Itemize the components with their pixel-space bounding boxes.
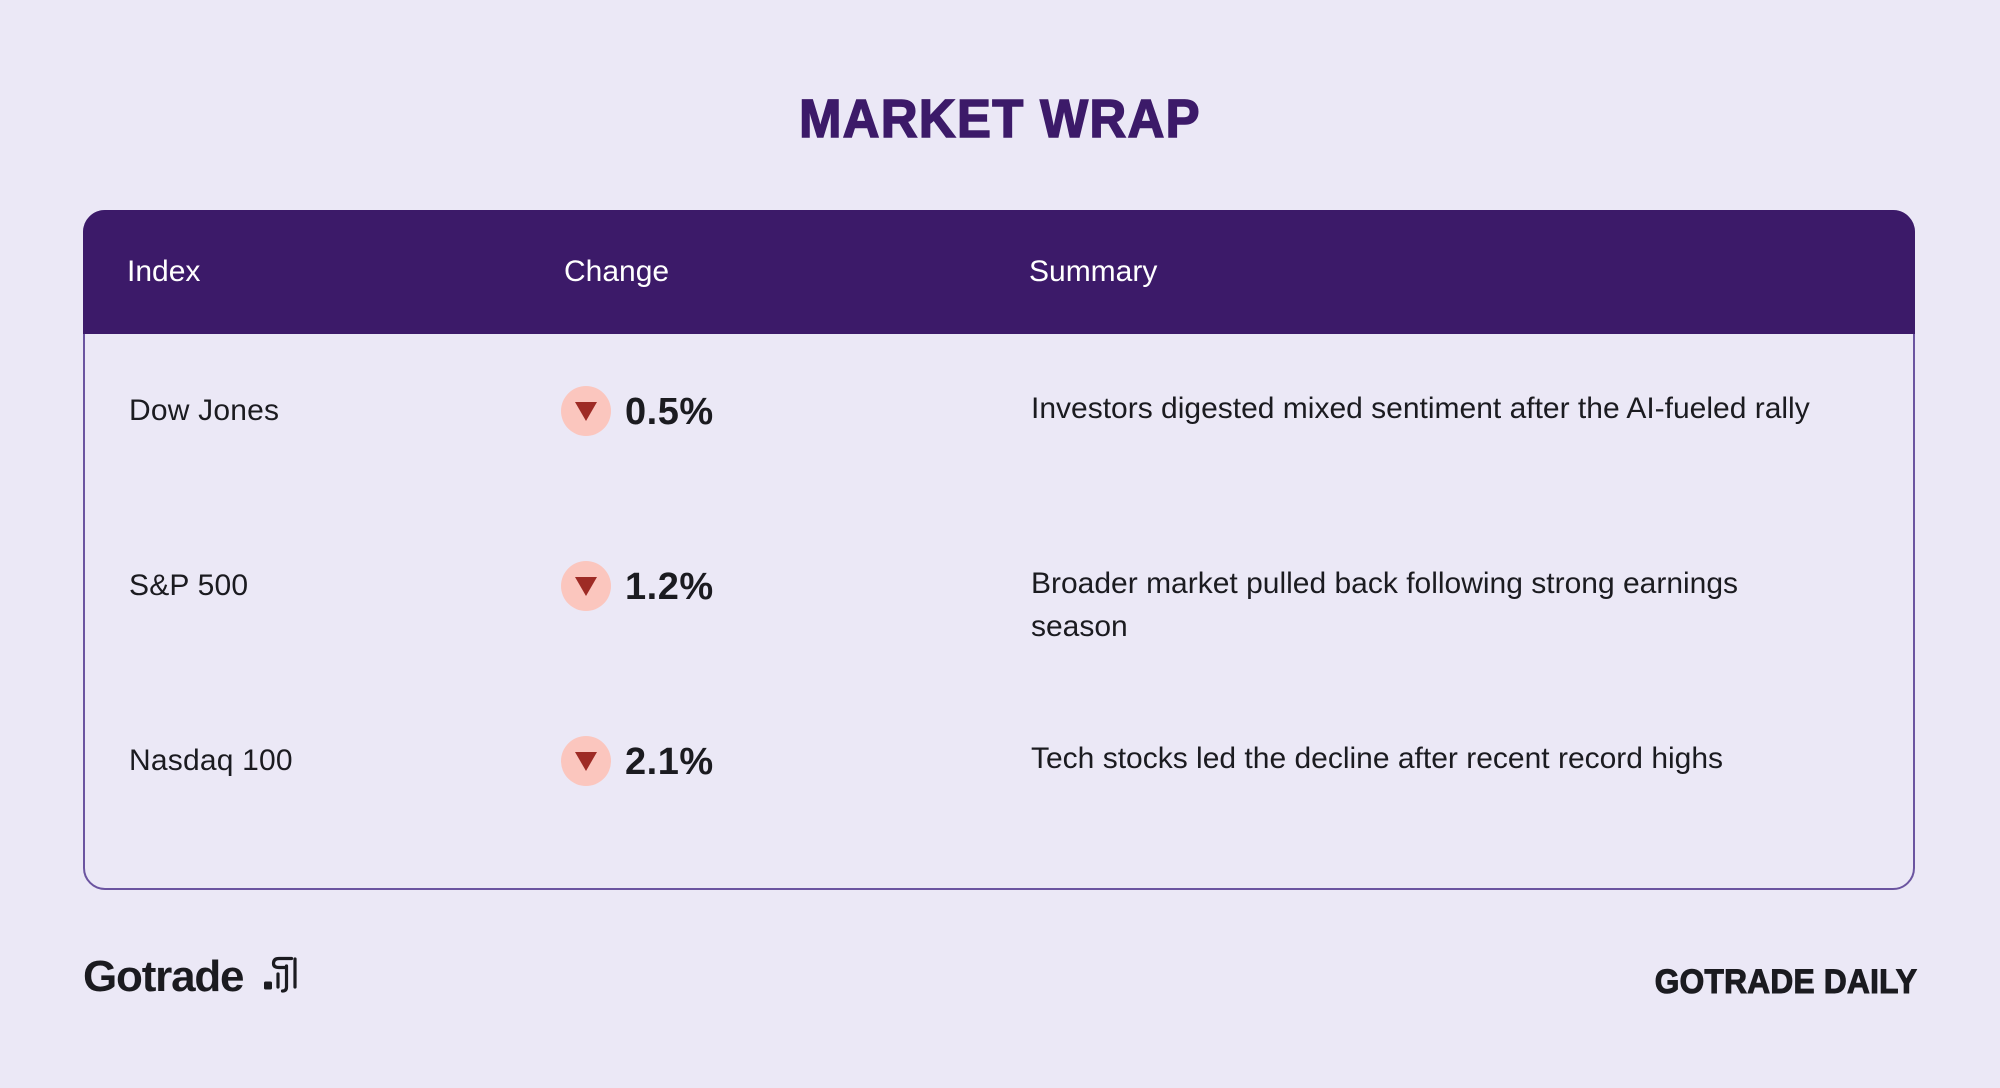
cell-summary: Broader market pulled back following str… [1031,563,1841,648]
cell-index-name: S&P 500 [129,569,248,603]
cell-index-name: Dow Jones [129,394,279,428]
brand-logo: Gotrade [83,952,301,1002]
triangle-down-icon [561,736,611,786]
cell-index-name: Nasdaq 100 [129,744,293,778]
page-title: MARKET WRAP [60,88,1940,150]
column-header-summary: Summary [1029,255,1157,289]
publication-name: GOTRADE DAILY [1655,963,1917,1002]
column-header-index: Index [127,255,200,289]
table-body: Dow Jones 0.5% Investors digested mixed … [85,334,1913,881]
brand-wordmark: Gotrade [83,952,243,1002]
cell-summary: Investors digested mixed sentiment after… [1031,388,1841,431]
market-wrap-table-card: Index Change Summary Dow Jones 0.5% Inve… [83,210,1915,890]
change-value: 2.1% [625,743,714,781]
cell-change: 0.5% [561,386,714,436]
column-header-change: Change [564,255,669,289]
triangle-down-icon [561,386,611,436]
table-header-row: Index Change Summary [83,210,1915,334]
cell-change: 2.1% [561,736,714,786]
table-row: Dow Jones 0.5% Investors digested mixed … [85,356,1913,531]
change-value: 1.2% [625,568,714,606]
cell-change: 1.2% [561,561,714,611]
table-row: Nasdaq 100 2.1% Tech stocks led the decl… [85,706,1913,881]
table-row: S&P 500 1.2% Broader market pulled back … [85,531,1913,706]
market-wrap-page: MARKET WRAP Index Change Summary Dow Jon… [0,0,2000,1088]
triangle-down-icon [561,561,611,611]
cell-summary: Tech stocks led the decline after recent… [1031,738,1841,781]
gotrade-chart-mark-icon [257,954,301,1001]
change-value: 0.5% [625,393,714,431]
